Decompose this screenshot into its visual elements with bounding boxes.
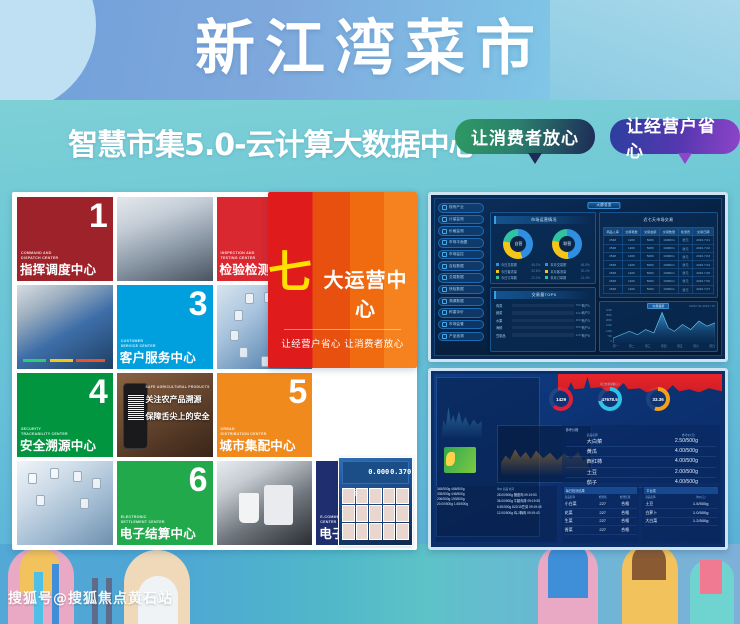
seven-centers-content: 七 大运营中心 让经营户省心 让消费者放心 (268, 254, 417, 350)
menu-item-icon (442, 217, 447, 222)
mini-table-row: 香菜227合格 (564, 526, 638, 535)
market-operation-panel: 市场运营情况 自营 联营 今日交易额45.2%今日客流量32.6%今日订单数22… (490, 212, 596, 284)
menu-item-icon (442, 205, 447, 210)
table-cell: 2548 (603, 269, 622, 277)
top5-bar-row: 蔬菜612.0商户2 (496, 310, 590, 315)
x-axis-tick: 周一 (613, 344, 619, 351)
menu-item-icon (442, 229, 447, 234)
dashboard-overview-inner: 现有产业计量监测价格监测市场平面图市场监控自检数据交易数据快检数据溯源数据称重评… (434, 198, 722, 356)
dashboard-overview-screen[interactable]: 现有产业计量监测价格监测市场平面图市场监控自检数据交易数据快检数据溯源数据称重评… (428, 192, 728, 362)
legend-value: 32.6% (531, 269, 540, 273)
log-row-left: 206/500g 193/500g (437, 497, 496, 501)
donut-legend: 今日交易额45.2%今日客流量32.6%今日订单数22.2% 本月交易额48.5… (494, 262, 592, 280)
price-rows: 大白菜2.50/500g黄瓜4.00/500g西红柿4.00/500g土豆2.0… (566, 437, 716, 488)
table-cell: 5080 (641, 260, 660, 268)
legend-swatch (545, 270, 548, 273)
dashboard-right-column: 近七天市场交易 商品入库交易笔数交易金额交易数量检测员交易日期 25481206… (599, 212, 718, 352)
dashboard-menu-item-11[interactable]: 市场监管 (438, 320, 484, 330)
price-col-name: 商品名称 (587, 433, 598, 437)
price-item-name: 大白菜 (587, 438, 603, 445)
gauge-left-value: 1429 (549, 387, 573, 411)
mini-table-row: 花菜227合格 (564, 509, 638, 518)
page-title: 新江湾菜市 (0, 16, 740, 83)
screen-bar-b (50, 359, 73, 362)
user-node-3 (73, 471, 82, 482)
donut-chart-self-operated: 自营 (503, 229, 533, 259)
top5-bar-track: 612.0 (512, 311, 574, 314)
legend-row: 今日交易额45.2% (496, 262, 540, 267)
table-cell: 张元 (678, 236, 692, 244)
pos-product-tile[interactable] (383, 488, 396, 505)
pos-product-tile[interactable] (396, 488, 409, 505)
trend-chart-svg (613, 309, 715, 343)
pos-product-tile[interactable] (369, 523, 382, 540)
mini-table-cell: 1.5/500g (684, 501, 717, 507)
mini-table-row: 白萝卜1.0/500g (644, 509, 718, 518)
table-header-row: 商品入库交易笔数交易金额交易数量检测员交易日期 (603, 228, 713, 236)
legend-label: 本月交易额 (550, 262, 566, 267)
detection-table-title: 每日检测结果 (564, 487, 638, 494)
platform-price-table: 平台菜 商品名称单价(元) 土豆1.5/500g白萝卜1.0/500g大白菜1.… (642, 486, 720, 542)
top5-bar-track: 210.5 (512, 333, 574, 336)
donut-legend-left: 今日交易额45.2%今日客流量32.6%今日订单数22.2% (496, 262, 540, 280)
table-cell: 2548 (603, 252, 622, 260)
transactions-table: 商品入库交易笔数交易金额交易数量检测员交易日期 2548120650801000… (603, 227, 714, 294)
table-cell: 2548 (603, 277, 622, 285)
menu-item-label: 交易数据 (449, 275, 464, 280)
table-body: 2548120650801000KG张元2019.7.0125481206508… (603, 236, 713, 293)
table-row: 2548120650801000KG张元2019.7.06 (603, 277, 713, 285)
table-cell: 2019.7.07 (693, 285, 714, 293)
grid-cell-photo-screens (17, 285, 113, 369)
price-row: 大白菜2.50/500g (566, 437, 716, 447)
donut-legend-right: 本月交易额48.5%本月客流量30.1%本月订单数21.4% (545, 262, 589, 280)
transaction-log-left: 345/500g 466/500g335/500g 446/500g206/50… (437, 487, 496, 541)
legend-value: 21.4% (581, 276, 590, 280)
mini-table-header-cell: 单价(元) (684, 495, 717, 499)
x-axis-tick: 周六 (693, 344, 699, 351)
mini-table-header-cell: 商品名称 (645, 495, 684, 499)
menu-item-icon (442, 287, 447, 292)
top5-value: 760.4 (576, 303, 583, 307)
table-cell: 张元 (678, 269, 692, 277)
menu-item-label: 快检数据 (449, 287, 464, 292)
table-row: 2548120650801000KG张元2019.7.02 (603, 244, 713, 252)
table-cell: 1206 (622, 285, 641, 293)
pos-product-tile[interactable] (342, 505, 355, 522)
legend-value: 22.2% (531, 276, 540, 280)
table-cell: 1000KG (660, 277, 679, 285)
log-row-right: 12.00/500g 鸡-2胸肉 09:19:43 (497, 510, 556, 515)
top5-bar-row: 肉类760.4商户1 (496, 303, 590, 308)
seven-centers-heading: 七 大运营中心 (268, 254, 417, 322)
log-row-left: 345/500g 466/500g (437, 487, 496, 491)
mini-table-cell: 227 (592, 510, 614, 516)
legend-swatch (545, 276, 548, 279)
trend-chart-y-axis: 420035002800210014007000 (600, 309, 612, 343)
center-card-4[interactable]: 4 SECURITY TRACEABILITY CENTER 安全溯源中心 (17, 373, 113, 457)
menu-item-label: 市场监管 (449, 322, 464, 327)
gauge-total: 今日交易总额(元) 47678.5 (598, 387, 622, 411)
center-card-6[interactable]: 6 ELECTRONIC SETTLEMENT CENTER 电子结算中心 (117, 461, 213, 545)
dashboard-topbar: 大屏总览 (490, 202, 718, 209)
menu-item-label: 称重评价 (449, 310, 464, 315)
dashboard-left-column: 市场运营情况 自营 联营 今日交易额45.2%今日客流量32.6%今日订单数22… (490, 212, 596, 352)
iot-node-7 (239, 347, 248, 358)
grid-cell-center-1[interactable]: 1 COMMAND AND DISPATCH CENTER 指挥调度中心 (17, 197, 113, 281)
table-cell: 1000KG (660, 252, 679, 260)
y-axis-tick: 0 (600, 340, 612, 343)
mini-table-cell: 合格 (614, 527, 636, 533)
pos-product-tile[interactable] (356, 488, 369, 505)
table-cell: 张元 (678, 244, 692, 252)
top5-bar-track: 480.6 (512, 319, 574, 322)
dashboard-market-screen[interactable]: 1429 今日交易总额(元) 47678.5 33.36 参考价格 商品名称 参… (428, 368, 728, 550)
dashboard-title: 大屏总览 (587, 202, 620, 209)
transaction-log-right: 单价 商品 时间28.00/500g 猪瘦肉 09:19:5336.00/500… (497, 487, 556, 541)
pos-product-tile[interactable] (356, 505, 369, 522)
price-row: 西红柿4.00/500g (566, 457, 716, 467)
menu-item-icon (442, 252, 447, 257)
mini-table-header-cell: 商品名称 (565, 495, 592, 499)
dashboard-menu-item-4[interactable]: 市场平面图 (438, 238, 484, 248)
price-item-name: 土豆 (587, 469, 597, 476)
photo-control-room (117, 197, 213, 281)
seven-centers-subtitle: 让经营户省心 让消费者放心 (268, 336, 417, 350)
mini-table-header-cell: 检测结果 (614, 495, 636, 499)
screen-bar-a (23, 359, 46, 362)
pos-product-tile[interactable] (369, 505, 382, 522)
table-row: 2548120650801000KG张元2019.7.05 (603, 269, 713, 277)
legend-label: 今日客流量 (501, 269, 517, 274)
top5-category: 豆制品 (496, 333, 509, 338)
mini-table-cell: 大白菜 (645, 518, 684, 524)
bottom-tables-wrapper: 每日检测结果 商品名称检测值检测结果 小白菜227合格花菜227合格生菜227合… (562, 486, 720, 542)
x-axis-tick: 周二 (629, 344, 635, 351)
photo-pos-terminal: 商品名 0.000 0.370 (339, 458, 412, 545)
table-cell: 5080 (641, 244, 660, 252)
y-axis-tick: 1400 (600, 330, 612, 333)
dashboard-menu-item-8[interactable]: 快检数据 (438, 285, 484, 295)
legend-swatch (496, 263, 499, 266)
header: 新江湾菜市 智慧市集5.0-云计算大数据中心 让消费者放心 让经营户省心 (0, 0, 740, 190)
log-row-right: 36.00/500g 牛腿肉排 09:19:55 (497, 498, 556, 503)
gauge-red: 1429 (549, 387, 573, 411)
top5-title: 交易量TOP5 (494, 291, 592, 299)
photo-digital-users (17, 461, 113, 545)
table-cell: 1000KG (660, 269, 679, 277)
menu-item-icon (442, 264, 447, 269)
trend-chart-x-axis: 周一周二周三周四周五周六周日 (613, 344, 715, 351)
left-sparkline (441, 394, 482, 438)
pos-product-tile[interactable] (342, 488, 355, 505)
table-cell: 2019.7.03 (693, 252, 714, 260)
dashboard-menu-item-6[interactable]: 自检数据 (438, 261, 484, 271)
photo-monitor-wall (17, 285, 113, 369)
platform-table-title: 平台菜 (644, 487, 718, 494)
iot-node-5 (234, 310, 243, 321)
dashboard-menu-item-5[interactable]: 市场监控 (438, 250, 484, 260)
mini-table-cell: 生菜 (565, 518, 592, 524)
top5-value: 210.5 (576, 333, 583, 337)
trend-chart-area (613, 312, 715, 343)
x-axis-tick: 周五 (677, 344, 683, 351)
transaction-log-tables: 345/500g 466/500g335/500g 446/500g206/50… (436, 486, 557, 542)
seven-centers-title: 大运营中心 (314, 264, 417, 322)
donut-chart-group: 自营 联营 (494, 227, 592, 262)
badge-consumer: 让消费者放心 (455, 119, 595, 154)
log-row-left: 20.00/500g 1.65/500g (437, 502, 496, 506)
user-node-1 (28, 473, 37, 484)
menu-item-icon (442, 310, 447, 315)
gauge-total-caption: 今日交易总额(元) (598, 382, 622, 386)
center-card-5[interactable]: 5 URBAN DISTRIBUTION CENTER 城市集配中心 (217, 373, 313, 457)
pos-product-tile[interactable] (383, 523, 396, 540)
y-axis-tick: 4200 (600, 309, 612, 312)
table-cell: 2548 (603, 244, 622, 252)
top5-category: 蔬菜 (496, 310, 509, 315)
mini-table-row: 土豆1.5/500g (644, 500, 718, 509)
pos-weight-value: 0.000 (368, 468, 389, 476)
detection-table-rows: 小白菜227合格花菜227合格生菜227合格香菜227合格 (564, 500, 638, 535)
top5-bar-row: 海鲜350.2商户4 (496, 325, 590, 330)
pos-price-value: 0.370 (390, 468, 411, 476)
top5-value: 612.0 (576, 311, 583, 315)
menu-item-label: 溯源数据 (449, 299, 464, 304)
menu-item-icon (442, 240, 447, 245)
illustration-figure-3-accent (548, 544, 588, 598)
price-item-value: 4.00/500g (675, 458, 698, 465)
table-cell: 2019.7.04 (693, 260, 714, 268)
iot-node-1 (245, 293, 254, 304)
dashboard-menu-item-7[interactable]: 交易数据 (438, 273, 484, 283)
legend-swatch (545, 263, 548, 266)
table-cell: 1206 (622, 244, 641, 252)
mini-table-cell: 土豆 (645, 501, 684, 507)
legend-row: 本月交易额48.5% (545, 262, 589, 267)
mini-table-cell: 227 (592, 527, 614, 533)
iot-node-6 (230, 330, 239, 341)
mini-table-cell: 227 (592, 501, 614, 507)
table-cell: 1000KG (660, 285, 679, 293)
user-node-4 (92, 478, 101, 489)
menu-item-icon (442, 275, 447, 280)
legend-label: 今日订单数 (501, 275, 517, 280)
table-column-header: 检测员 (678, 228, 692, 236)
pos-product-tile[interactable] (369, 488, 382, 505)
price-item-value: 4.00/500g (675, 479, 698, 486)
top5-bar-track: 760.4 (512, 304, 574, 307)
pos-product-tile[interactable] (356, 523, 369, 540)
dashboard-menu-item-9[interactable]: 溯源数据 (438, 297, 484, 307)
table-cell: 1206 (622, 252, 641, 260)
dashboard-market-inner: 1429 今日交易总额(元) 47678.5 33.36 参考价格 商品名称 参… (434, 374, 722, 544)
mini-table-cell: 1.0/500g (684, 510, 717, 516)
table-cell: 5080 (641, 236, 660, 244)
mini-table-cell: 1.2/500g (684, 518, 717, 524)
brand-logo (444, 447, 476, 472)
photo-overlay-line2: 保障舌尖上的安全 (145, 410, 209, 424)
log-header-right: 单价 商品 时间 (497, 487, 556, 491)
trend-chart-note: 2019.7.01-2019.7.07 (689, 304, 715, 308)
mini-table-cell: 花菜 (565, 510, 592, 516)
menu-item-icon (442, 334, 447, 339)
table-column-header: 商品入库 (603, 228, 622, 236)
price-item-name: 西红柿 (587, 458, 603, 465)
legend-swatch (496, 276, 499, 279)
trend-area-chart-panel: 交易趋势 2019.7.01-2019.7.07 420035002800210… (599, 301, 718, 352)
center-card-5-label: 城市集配中心 (220, 435, 296, 454)
mini-table-cell: 白萝卜 (645, 510, 684, 516)
legend-label: 本月订单数 (550, 275, 566, 280)
center-card-4-label: 安全溯源中心 (20, 435, 96, 454)
center-card-3-label: 客户服务中心 (120, 347, 196, 366)
user-node-2 (50, 468, 59, 479)
top5-bar-row: 水果480.6商户3 (496, 318, 590, 323)
dashboard-menu-item-1[interactable]: 现有产业 (438, 203, 484, 213)
top5-bar-chart: 肉类760.4商户1蔬菜612.0商户2水果480.6商户3海鲜350.2商户4… (494, 302, 592, 339)
price-col-price: 参考价(元) (682, 433, 695, 437)
price-item-value: 2.00/500g (675, 469, 698, 476)
pos-product-tile[interactable] (396, 505, 409, 522)
center-card-4-number: 4 (89, 375, 108, 409)
pos-product-tile[interactable] (342, 523, 355, 540)
mini-table-header-cell: 检测值 (592, 495, 614, 499)
user-node-6 (80, 498, 89, 509)
mini-table-cell: 合格 (614, 501, 636, 507)
donut-chart-joint-operated: 联营 (552, 229, 582, 259)
table-cell: 张元 (678, 277, 692, 285)
grid-cell-center-5[interactable]: 5 URBAN DISTRIBUTION CENTER 城市集配中心 (217, 373, 313, 457)
log-row-left: 335/500g 446/500g (437, 492, 496, 496)
pos-product-grid[interactable] (342, 488, 409, 540)
table-cell: 2548 (603, 260, 622, 268)
detection-results-table: 每日检测结果 商品名称检测值检测结果 小白菜227合格花菜227合格生菜227合… (562, 486, 640, 542)
top5-bar-track: 350.2 (512, 326, 574, 329)
pos-product-tile[interactable] (383, 505, 396, 522)
center-card-6-label: 电子结算中心 (120, 523, 196, 542)
center-card-6-number: 6 (189, 463, 208, 497)
dashboard-menu-item-12[interactable]: 产品追溯 (438, 332, 484, 342)
table-column-header: 交易笔数 (622, 228, 641, 236)
menu-item-label: 产品追溯 (449, 334, 464, 339)
table-cell: 张元 (678, 285, 692, 293)
table-cell: 2019.7.01 (693, 236, 714, 244)
table-cell: 2019.7.05 (693, 269, 714, 277)
menu-item-label: 计量监测 (449, 217, 464, 222)
price-row: 黄瓜4.00/500g (566, 447, 716, 457)
dashboard-menu-item-3[interactable]: 价格监测 (438, 226, 484, 236)
price-item-value: 2.50/500g (675, 438, 698, 445)
table-row: 2548120650801000KG张元2019.7.03 (603, 252, 713, 260)
table-column-header: 交易日期 (693, 228, 714, 236)
legend-row: 今日订单数22.2% (496, 275, 540, 280)
table-row: 2548120650801000KG张元2019.7.01 (603, 236, 713, 244)
table-cell: 张元 (678, 252, 692, 260)
market-operation-title: 市场运营情况 (494, 216, 592, 224)
grid-cell-photo-traceability: SAFE AGRICULTURAL PRODUCTS 关注农产品溯源 保障舌尖上… (117, 373, 213, 457)
y-axis-tick: 700 (600, 335, 612, 338)
top5-value: 350.2 (576, 325, 583, 329)
menu-item-label: 市场平面图 (449, 240, 467, 245)
transactions-table-panel: 近七天市场交易 商品入库交易笔数交易金额交易数量检测员交易日期 25481206… (599, 212, 718, 298)
legend-swatch (496, 270, 499, 273)
table-cell: 2019.7.02 (693, 244, 714, 252)
dashboard-menu-item-10[interactable]: 称重评价 (438, 308, 484, 318)
price-item-name: 茄子 (587, 479, 597, 486)
mini-table-row: 生菜227合格 (564, 518, 638, 527)
legend-value: 45.2% (531, 263, 540, 267)
watermark: 搜狐号@搜狐焦点黄石站 (8, 588, 173, 608)
device-cup-shape (239, 493, 258, 523)
dashboard-body: 市场运营情况 自营 联营 今日交易额45.2%今日客流量32.6%今日订单数22… (490, 212, 718, 352)
table-cell: 1206 (622, 236, 641, 244)
gauge-right-value: 33.36 (646, 387, 670, 411)
gauge-group: 1429 今日交易总额(元) 47678.5 33.36 (549, 379, 670, 420)
pos-terminal-card[interactable]: 商品名 0.000 0.370 (338, 457, 413, 546)
dashboard-sidebar[interactable]: 现有产业计量监测价格监测市场平面图市场监控自检数据交易数据快检数据溯源数据称重评… (435, 199, 487, 355)
seven-centers-number: 七 (268, 254, 312, 291)
photo-qr-traceability: SAFE AGRICULTURAL PRODUCTS 关注农产品溯源 保障舌尖上… (117, 373, 213, 457)
legend-row: 本月客流量30.1% (545, 269, 589, 274)
screen-bar-c (76, 359, 105, 362)
top5-panel: 交易量TOP5 肉类760.4商户1蔬菜612.0商户2水果480.6商户3海鲜… (490, 287, 596, 352)
seven-centers-divider (284, 329, 400, 330)
menu-item-label: 自检数据 (449, 264, 464, 269)
mini-table-row: 大白菜1.2/500g (644, 518, 718, 527)
badge-merchant: 让经营户省心 (610, 119, 740, 154)
legend-label: 今日交易额 (501, 262, 517, 267)
dashboard-main-area: 大屏总览 市场运营情况 自营 联营 (487, 199, 721, 355)
reference-price-panel: 参考价格 商品名称 参考价(元) 大白菜2.50/500g黄瓜4.00/500g… (562, 425, 720, 483)
table-cell: 2019.7.06 (693, 277, 714, 285)
center-card-1[interactable]: 1 COMMAND AND DISPATCH CENTER 指挥调度中心 (17, 197, 113, 281)
price-item-value: 4.00/500g (675, 448, 698, 455)
table-cell: 1000KG (660, 236, 679, 244)
donut-left-label: 自营 (503, 229, 533, 259)
mini-table-cell: 合格 (614, 518, 636, 524)
page-subtitle: 智慧市集5.0-云计算大数据中心 (68, 120, 478, 164)
log-row-right: 28.00/500g 猪瘦肉 09:19:53 (497, 492, 556, 497)
center-card-1-label: 指挥调度中心 (20, 259, 96, 278)
photo-overlay-line1: 关注农产品溯源 (145, 393, 201, 407)
table-cell: 5080 (641, 269, 660, 277)
photo-scale-device (217, 461, 313, 545)
center-card-3[interactable]: 3 CUSTOMER SERVICE CENTER 客户服务中心 (117, 285, 213, 369)
top5-bar-row: 豆制品210.5商户5 (496, 333, 590, 338)
y-axis-tick: 2800 (600, 319, 612, 322)
top5-category: 肉类 (496, 303, 509, 308)
mini-table-cell: 227 (592, 518, 614, 524)
mini-table-cell: 香菜 (565, 527, 592, 533)
price-row: 土豆2.00/500g (566, 468, 716, 478)
grid-cell-center-6[interactable]: 6 ELECTRONIC SETTLEMENT CENTER 电子结算中心 (117, 461, 213, 545)
table-cell: 2548 (603, 236, 622, 244)
grid-cell-center-4[interactable]: 4 SECURITY TRACEABILITY CENTER 安全溯源中心 (17, 373, 113, 457)
menu-item-icon (442, 299, 447, 304)
y-axis-tick: 2100 (600, 324, 612, 327)
log-row-right: 6.50/500g 822/15豆芽 09:19:45 (497, 504, 556, 509)
grid-cell-center-3[interactable]: 3 CUSTOMER SERVICE CENTER 客户服务中心 (117, 285, 213, 369)
table-cell: 1000KG (660, 260, 679, 268)
dashboard-menu-item-2[interactable]: 计量监测 (438, 215, 484, 225)
mini-table-row: 小白菜227合格 (564, 500, 638, 509)
pos-product-tile[interactable] (396, 523, 409, 540)
y-axis-tick: 3500 (600, 314, 612, 317)
table-cell: 1206 (622, 277, 641, 285)
center-card-3-number: 3 (189, 287, 208, 321)
price-panel-left-label: 参考价格 (566, 427, 579, 432)
